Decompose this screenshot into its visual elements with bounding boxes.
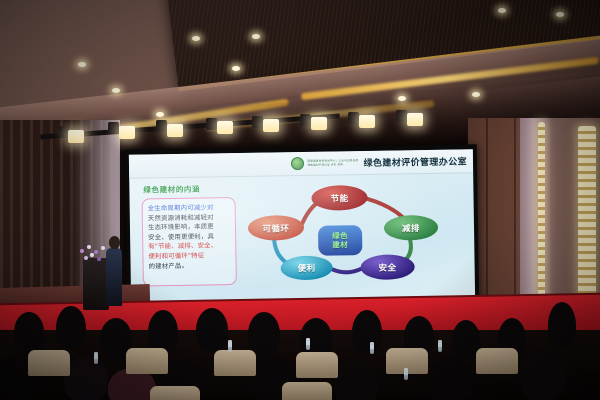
audience-person xyxy=(196,308,228,352)
green-leaf-logo-icon xyxy=(290,157,303,170)
water-bottle xyxy=(228,340,232,352)
chair-back xyxy=(150,386,200,400)
water-bottle xyxy=(306,338,310,350)
water-bottle xyxy=(404,368,408,380)
audience-person xyxy=(548,302,576,348)
presentation-screen[interactable]: 国家建筑材料测试中心 / 工业与信息化部 绿色建材产品认证 评价 机构 绿色建材… xyxy=(129,149,475,306)
downlight-icon xyxy=(112,88,120,93)
slide-textbox: 全生命周期内可减少对 天然资源消耗和减轻对 生态环境影响，本质更 安全、使用更便… xyxy=(142,197,237,286)
chair-back xyxy=(296,352,338,378)
cycle-node-label: 便利 xyxy=(298,262,316,274)
stage-light-icon xyxy=(359,115,375,128)
audience-person xyxy=(430,358,474,400)
stage-light-housing xyxy=(252,116,263,128)
conference-hall-photo: 国家建筑材料测试中心 / 工业与信息化部 绿色建材产品认证 评价 机构 绿色建材… xyxy=(0,0,600,400)
downlight-icon xyxy=(498,8,506,13)
stage-light-housing xyxy=(206,118,217,130)
stage-light-housing xyxy=(348,112,359,124)
cycle-node-label: 节能 xyxy=(330,192,348,204)
stage-light-housing xyxy=(156,120,167,132)
audience-person xyxy=(64,356,108,400)
stage-light-icon xyxy=(68,130,84,143)
downlight-icon xyxy=(556,12,564,17)
stage-light-icon xyxy=(167,124,183,137)
downlight-icon xyxy=(156,112,164,117)
downlight-icon xyxy=(472,92,480,97)
cycle-node-center-green-building-material[interactable]: 绿色 建材 xyxy=(318,225,362,256)
chair-back xyxy=(282,382,332,400)
wall-light-panel-icon xyxy=(578,126,596,296)
audience-person xyxy=(248,312,280,356)
slide-subtitle: 绿色建材的内涵 xyxy=(143,184,200,196)
audience-person xyxy=(520,350,566,400)
presenter-head xyxy=(109,236,120,249)
cycle-node-label: 减排 xyxy=(402,222,420,234)
stage-light-housing xyxy=(396,110,407,122)
downlight-icon xyxy=(78,62,86,67)
stage-light-icon xyxy=(311,117,327,130)
downlight-icon xyxy=(232,66,240,71)
downlight-icon xyxy=(192,36,200,41)
cycle-node-label: 可循环 xyxy=(262,222,289,234)
green-building-material-cycle-diagram: 节能 减排 安全 便利 可循环 绿色 建材 xyxy=(241,181,465,296)
stage-light-icon xyxy=(263,119,279,132)
water-bottle xyxy=(438,340,442,352)
stage-light-icon xyxy=(217,121,233,134)
chair-back xyxy=(28,350,70,376)
downlight-icon xyxy=(252,34,260,39)
stage-light-icon xyxy=(119,126,135,139)
stage-light-housing xyxy=(108,122,119,134)
wall-light-strip-icon xyxy=(538,122,545,312)
org-subtitle: 国家建筑材料测试中心 / 工业与信息化部 绿色建材产品认证 评价 机构 xyxy=(308,159,360,166)
audience-person xyxy=(56,306,86,350)
slide-header: 国家建筑材料测试中心 / 工业与信息化部 绿色建材产品认证 评价 机构 绿色建材… xyxy=(129,149,473,178)
audience-person xyxy=(14,312,44,352)
org-subtitle-line2: 绿色建材产品认证 评价 机构 xyxy=(308,163,360,167)
presenter-body xyxy=(106,248,122,306)
stage-light-icon xyxy=(407,113,423,126)
chair-back xyxy=(126,348,168,374)
cycle-center-label-line1: 绿色 xyxy=(332,231,348,241)
chair-back xyxy=(476,348,518,374)
org-title: 绿色建材评价管理办公室 xyxy=(363,154,467,169)
downlight-icon xyxy=(398,96,406,101)
water-bottle xyxy=(94,352,98,364)
stage-light-housing xyxy=(300,114,311,126)
water-bottle xyxy=(370,342,374,354)
textbox-line: 的建材产品。 xyxy=(149,261,232,272)
chair-back xyxy=(214,350,256,376)
cycle-center-label-line2: 建材 xyxy=(332,240,348,250)
audience-person xyxy=(352,310,382,354)
cycle-node-label: 安全 xyxy=(379,261,397,273)
audience-person xyxy=(334,362,378,400)
